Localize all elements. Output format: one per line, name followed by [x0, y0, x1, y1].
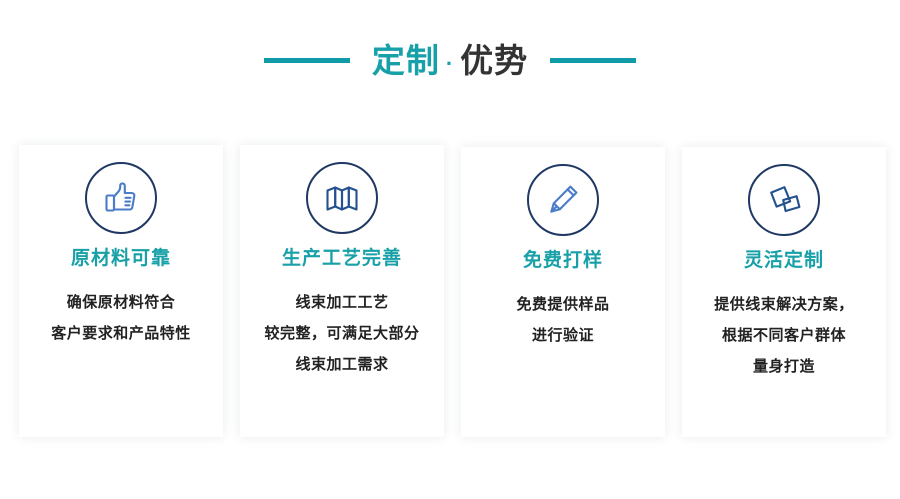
advantages-section: 定制 · 优势 原材料可靠 确保原材料符合 客户要求和产品特性 [0, 0, 900, 499]
advantage-card[interactable]: 原材料可靠 确保原材料符合 客户要求和产品特性 [19, 145, 223, 437]
page-title-sub: 优势 [460, 44, 528, 77]
title-rule-right [550, 58, 636, 63]
section-header: 定制 · 优势 [0, 30, 900, 90]
advantage-card-body: 免费提供样品 进行验证 [470, 289, 656, 351]
body-line: 根据不同客户群体 [691, 320, 877, 351]
advantage-card-list: 原材料可靠 确保原材料符合 客户要求和产品特性 生产工艺完善 线束加工工艺 较完… [19, 145, 885, 437]
advantage-card[interactable]: 免费打样 免费提供样品 进行验证 [461, 147, 665, 437]
pencil-icon [527, 164, 599, 236]
body-line: 量身打造 [691, 351, 877, 382]
stacked-cards-icon [748, 164, 820, 236]
advantage-card-body: 确保原材料符合 客户要求和产品特性 [28, 287, 214, 349]
advantage-card-title: 原材料可靠 [71, 248, 171, 271]
body-line: 客户要求和产品特性 [28, 318, 214, 349]
advantage-card-title: 生产工艺完善 [282, 248, 402, 271]
advantage-card-title: 免费打样 [523, 250, 603, 273]
advantage-card-title: 灵活定制 [744, 250, 824, 273]
advantage-card-body: 线束加工工艺 较完整，可满足大部分 线束加工需求 [249, 287, 435, 380]
body-line: 确保原材料符合 [28, 287, 214, 318]
advantage-card-body: 提供线束解决方案， 根据不同客户群体 量身打造 [691, 289, 877, 382]
advantage-card[interactable]: 生产工艺完善 线束加工工艺 较完整，可满足大部分 线束加工需求 [240, 145, 444, 437]
body-line: 免费提供样品 [470, 289, 656, 320]
thumbs-up-icon [85, 162, 157, 234]
page-title: 定制 · 优势 [372, 44, 528, 77]
page-title-main: 定制 [372, 44, 440, 77]
folded-map-icon [306, 162, 378, 234]
body-line: 线束加工工艺 [249, 287, 435, 318]
body-line: 进行验证 [470, 320, 656, 351]
advantage-card[interactable]: 灵活定制 提供线束解决方案， 根据不同客户群体 量身打造 [682, 147, 886, 437]
body-line: 较完整，可满足大部分 [249, 318, 435, 349]
body-line: 线束加工需求 [249, 349, 435, 380]
body-line: 提供线束解决方案， [691, 289, 877, 320]
title-rule-left [264, 58, 350, 63]
page-title-separator: · [440, 53, 460, 75]
